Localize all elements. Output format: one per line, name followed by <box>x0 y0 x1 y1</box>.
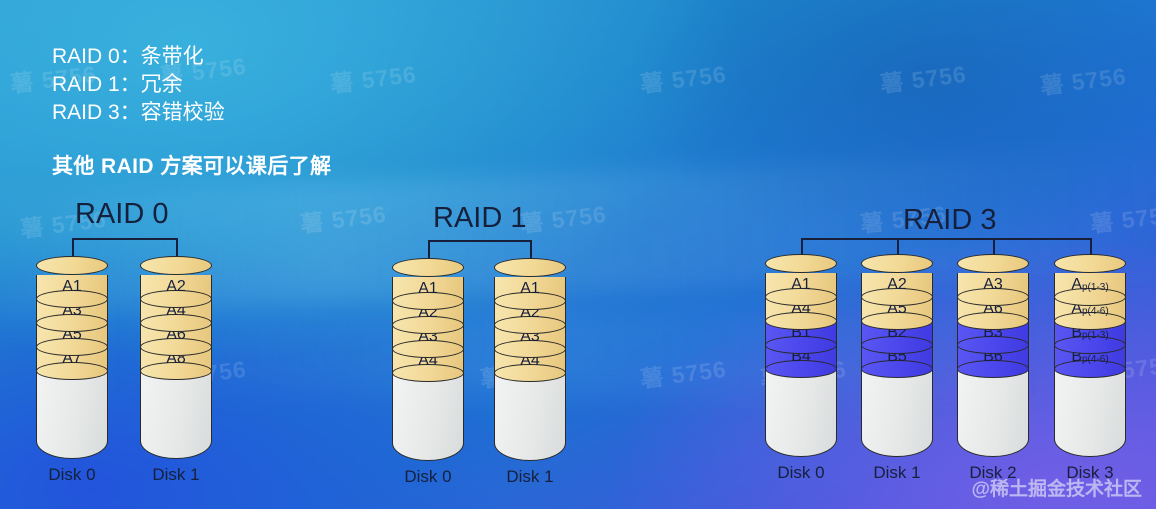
disk-top-surface <box>1054 254 1126 273</box>
raid-group-title: RAID 1 <box>433 202 526 235</box>
disk-cylinder: A8A6A4A2Disk 1 <box>140 256 212 459</box>
disk-block-label: Ap(1-3) <box>1054 273 1126 297</box>
disk-name-label: Disk 1 <box>506 467 553 487</box>
disk-block-label-subscript: p(4-6) <box>1082 307 1109 317</box>
disk-cylinder: Bp(4-6)Bp(1-3)Ap(4-6)Ap(1-3)Disk 3 <box>1054 254 1126 457</box>
disk-block-label-subscript: p(1-3) <box>1082 283 1109 293</box>
disk-block: A3 <box>957 273 1029 297</box>
disk-block-label: A2 <box>861 273 933 297</box>
disk-block-label: A1 <box>494 277 566 301</box>
disk-free-space <box>140 371 212 459</box>
disk-cylinder: A4A3A2A1Disk 1 <box>494 258 566 461</box>
disk-block: A1 <box>36 275 108 299</box>
disk-cylinder: B4B1A4A1Disk 0 <box>765 254 837 457</box>
disk-free-space <box>1054 369 1126 457</box>
disk-cylinder: A7A5A3A1Disk 0 <box>36 256 108 459</box>
disk-cylinder: B6B3A6A3Disk 2 <box>957 254 1029 457</box>
raid-group-title: RAID 0 <box>75 198 168 231</box>
raid-bracket-connector <box>801 238 1090 262</box>
bracket-horizontal-bar <box>428 240 530 242</box>
disk-name-label: Disk 1 <box>152 465 199 485</box>
disk-block: A2 <box>861 273 933 297</box>
lead-line-1: RAID 0：条带化 <box>52 40 204 70</box>
disk-top-surface <box>140 256 212 275</box>
disk-free-space <box>36 371 108 459</box>
disk-block-label: A1 <box>36 275 108 299</box>
disk-name-label: Disk 0 <box>777 463 824 483</box>
disk-name-label: Disk 0 <box>48 465 95 485</box>
disk-block: A2 <box>140 275 212 299</box>
disk-block-label: A2 <box>140 275 212 299</box>
disk-block: Ap(1-3) <box>1054 273 1126 297</box>
disk-block: A1 <box>494 277 566 301</box>
disk-top-surface <box>392 258 464 277</box>
lead-line-2: RAID 1：冗余 <box>52 68 183 98</box>
disk-cylinder: B5B2A5A2Disk 1 <box>861 254 933 457</box>
raid-group-title: RAID 3 <box>903 204 996 237</box>
disk-block-label-subscript: p(4-6) <box>1082 355 1109 365</box>
disk-free-space <box>765 369 837 457</box>
disk-free-space <box>957 369 1029 457</box>
disk-free-space <box>494 373 566 461</box>
bracket-horizontal-bar <box>72 238 176 240</box>
disk-block-label: A1 <box>765 273 837 297</box>
disk-block-label: A1 <box>392 277 464 301</box>
disk-block: A1 <box>392 277 464 301</box>
disk-free-space <box>861 369 933 457</box>
lead-line-3: RAID 3：容错校验 <box>52 96 225 126</box>
disk-block-label: A3 <box>957 273 1029 297</box>
slide-canvas: 薯 5756薯 5756薯 5756薯 5756薯 5756薯 5756薯 57… <box>0 0 1156 509</box>
disk-top-surface <box>861 254 933 273</box>
disk-name-label: Disk 0 <box>404 467 451 487</box>
disk-block-label-subscript: p(1-3) <box>1082 331 1109 341</box>
disk-name-label: Disk 1 <box>873 463 920 483</box>
disk-free-space <box>392 373 464 461</box>
disk-top-surface <box>36 256 108 275</box>
corner-watermark: @稀土掘金技术社区 <box>971 474 1142 501</box>
disk-top-surface <box>494 258 566 277</box>
disk-block: A1 <box>765 273 837 297</box>
bracket-horizontal-bar <box>801 238 1090 240</box>
disk-top-surface <box>957 254 1029 273</box>
lead-line-4: 其他 RAID 方案可以课后了解 <box>52 150 331 180</box>
background-vignette <box>624 0 1156 255</box>
disk-top-surface <box>765 254 837 273</box>
disk-cylinder: A4A3A2A1Disk 0 <box>392 258 464 461</box>
